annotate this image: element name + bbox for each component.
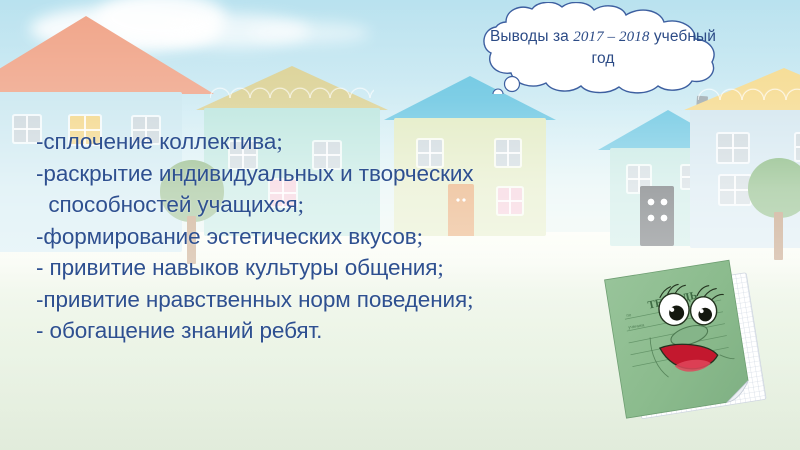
slide-canvas: Выводы за 2017 – 2018 учебный год -сплоч… bbox=[0, 0, 800, 450]
roof-khaki-scallop bbox=[210, 78, 374, 98]
bubble-prefix: Выводы за bbox=[490, 28, 573, 45]
bubble-year-start: 2017 bbox=[573, 29, 603, 45]
bubble-dash: – bbox=[604, 29, 619, 45]
conclusions-list: -сплочение коллектива; -раскрытие индиви… bbox=[36, 126, 656, 347]
tree-right-crown bbox=[748, 158, 800, 218]
thought-bubble: Выводы за 2017 – 2018 учебный год bbox=[448, 2, 758, 94]
bullet-term-2: ; bbox=[298, 192, 304, 217]
bullet-term-1: ; bbox=[276, 129, 282, 154]
bullet-text-6: обогащение знаний ребят bbox=[43, 318, 316, 343]
exercise-book-character: ТЕТРАДЬ по ученика класса школы bbox=[590, 248, 780, 420]
bullet-term-3: ; bbox=[417, 224, 423, 249]
bullet-line-3: -формирование эстетических вкусов; bbox=[36, 221, 656, 253]
bullet-line-2: -раскрытие индивидуальных и творческих с… bbox=[36, 158, 656, 221]
bullet-line-5: -привитие нравственных норм поведения; bbox=[36, 284, 656, 316]
bullet-text-1: сплочение коллектива bbox=[43, 129, 276, 154]
bullet-line-6: - обогащение знаний ребят. bbox=[36, 315, 656, 347]
thought-bubble-text: Выводы за 2017 – 2018 учебный год bbox=[448, 2, 758, 94]
sky-wisp-cloud-d bbox=[250, 22, 370, 44]
tree-right bbox=[748, 158, 800, 262]
window-grey-9 bbox=[718, 134, 748, 162]
bullet-line-4: - привитие навыков культуры общения; bbox=[36, 252, 656, 284]
bullet-term-4: ; bbox=[437, 255, 443, 280]
window-grey-11 bbox=[720, 176, 750, 204]
bullet-term-6: . bbox=[316, 318, 322, 343]
bullet-text-3: формирование эстетических вкусов bbox=[43, 224, 416, 249]
bullet-text-2: раскрытие индивидуальных и творческих сп… bbox=[36, 161, 473, 218]
bubble-year-end: 2018 bbox=[619, 29, 649, 45]
bullet-text-5: привитие нравственных норм поведения bbox=[43, 287, 467, 312]
bullet-term-5: ; bbox=[467, 287, 473, 312]
bullet-text-4: привитие навыков культуры общения bbox=[43, 255, 437, 280]
roof-coral bbox=[0, 16, 214, 94]
bullet-line-1: -сплочение коллектива; bbox=[36, 126, 656, 158]
window-grey-10 bbox=[796, 134, 800, 160]
